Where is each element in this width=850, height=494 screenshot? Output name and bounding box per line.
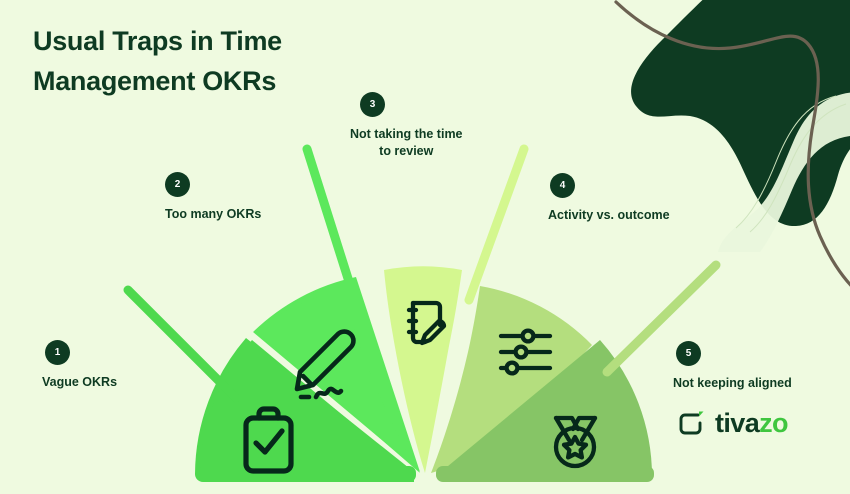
- page-title: Usual Traps in Time Management OKRs: [33, 22, 282, 102]
- tivazo-logo[interactable]: tiva zo: [676, 408, 788, 438]
- callout-label-1: Vague OKRs: [42, 374, 117, 391]
- callout-label-3: Not taking the time to review: [350, 126, 463, 160]
- callout-1[interactable]: 1 Vague OKRs: [42, 340, 117, 391]
- callout-2[interactable]: 2 Too many OKRs: [165, 172, 261, 223]
- leader-line-3: [469, 149, 524, 300]
- badge-number-2: 2: [165, 172, 190, 197]
- leader-line-2: [307, 149, 370, 348]
- tivazo-bracket-icon: [676, 408, 706, 438]
- callout-label-5: Not keeping aligned: [673, 375, 792, 392]
- infographic-canvas: Usual Traps in Time Management OKRs 1 Va…: [0, 0, 850, 494]
- callout-label-4: Activity vs. outcome: [548, 207, 670, 224]
- callout-4[interactable]: 4 Activity vs. outcome: [548, 173, 670, 224]
- badge-number-5: 5: [676, 341, 701, 366]
- logo-text-accent: zo: [759, 410, 788, 437]
- logo-text-primary: tiva: [715, 410, 759, 437]
- badge-number-1: 1: [45, 340, 70, 365]
- callout-5[interactable]: 5 Not keeping aligned: [673, 341, 792, 392]
- badge-number-3: 3: [360, 92, 385, 117]
- callout-3[interactable]: 3 Not taking the time to review: [356, 92, 463, 160]
- callout-label-2: Too many OKRs: [165, 206, 261, 223]
- leader-line-1: [128, 290, 236, 398]
- badge-number-4: 4: [550, 173, 575, 198]
